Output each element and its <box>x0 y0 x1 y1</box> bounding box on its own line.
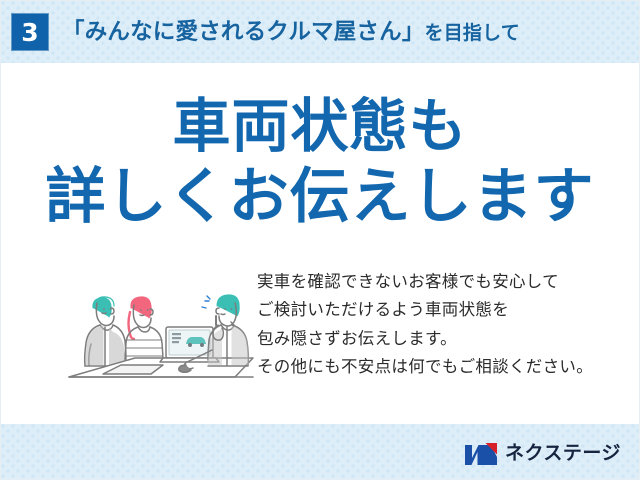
header-title: 「みんなに愛されるクルマ屋さん」を目指して <box>62 21 520 44</box>
main-content: 車両状態も 詳しくお伝えします <box>1 63 639 424</box>
lower-content-row: 実車を確認できないお客様でも安心して ご検討いただけるよう車両状態を 包み隠さず… <box>1 268 639 390</box>
header-title-quoted: 「みんなに愛されるクルマ屋さん」 <box>62 19 425 44</box>
header: 3 「みんなに愛されるクルマ屋さん」を目指して <box>1 1 639 63</box>
headline-line-1: 車両状態も <box>1 97 639 156</box>
body-text-line-2: ご検討いただけるよう車両状態を <box>257 296 639 324</box>
body-text-line-3: 包み隠さずお伝えします。 <box>257 325 639 353</box>
header-title-suffix: を目指して <box>425 23 520 44</box>
promo-banner: 3 「みんなに愛されるクルマ屋さん」を目指して 車両状態も 詳しくお伝えします <box>0 0 640 480</box>
nextage-n-logo-icon <box>464 441 498 466</box>
body-text: 実車を確認できないお客様でも安心して ご検討いただけるよう車両状態を 包み隠さず… <box>257 268 639 382</box>
step-number-badge: 3 <box>11 13 49 51</box>
headline-line-2: 詳しくお伝えします <box>1 166 639 227</box>
headline: 車両状態も 詳しくお伝えします <box>1 97 639 227</box>
step-number-label: 3 <box>21 20 38 45</box>
brand-logo: ネクステージ <box>464 441 621 466</box>
brand-name-label: ネクステージ <box>505 444 621 463</box>
body-text-line-4: その他にも不安点は何でもご相談ください。 <box>257 353 639 381</box>
customer-consultation-illustration <box>55 272 255 390</box>
body-text-line-1: 実車を確認できないお客様でも安心して <box>257 268 639 296</box>
illustration-svg <box>55 272 255 390</box>
